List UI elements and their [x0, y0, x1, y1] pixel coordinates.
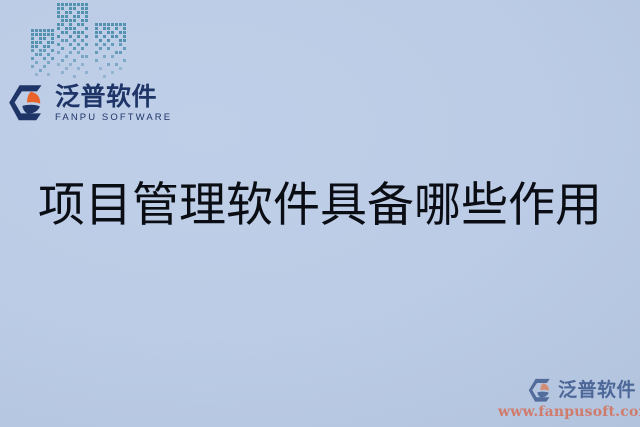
pixel-skyline-icon: [26, 0, 131, 80]
brand-name-cn: 泛普软件: [55, 84, 172, 110]
watermark-url: www.fanpusoft.com: [498, 405, 636, 419]
brand-lockup: 泛普软件 FANPU SOFTWARE: [8, 84, 172, 123]
fanpu-logo-icon: [8, 84, 48, 122]
page-title: 项目管理软件具备哪些作用: [0, 178, 640, 233]
promo-banner: 泛普软件 FANPU SOFTWARE 项目管理软件具备哪些作用 泛普软件 ww…: [0, 0, 640, 427]
watermark-logo-row: 泛普软件: [498, 378, 636, 403]
watermark: 泛普软件 www.fanpusoft.com: [498, 378, 636, 419]
fanpu-logo-watermark-icon: [528, 378, 554, 403]
brand-words: 泛普软件 FANPU SOFTWARE: [55, 84, 172, 123]
watermark-name-cn: 泛普软件: [558, 381, 636, 400]
brand-name-en: FANPU SOFTWARE: [55, 113, 172, 123]
